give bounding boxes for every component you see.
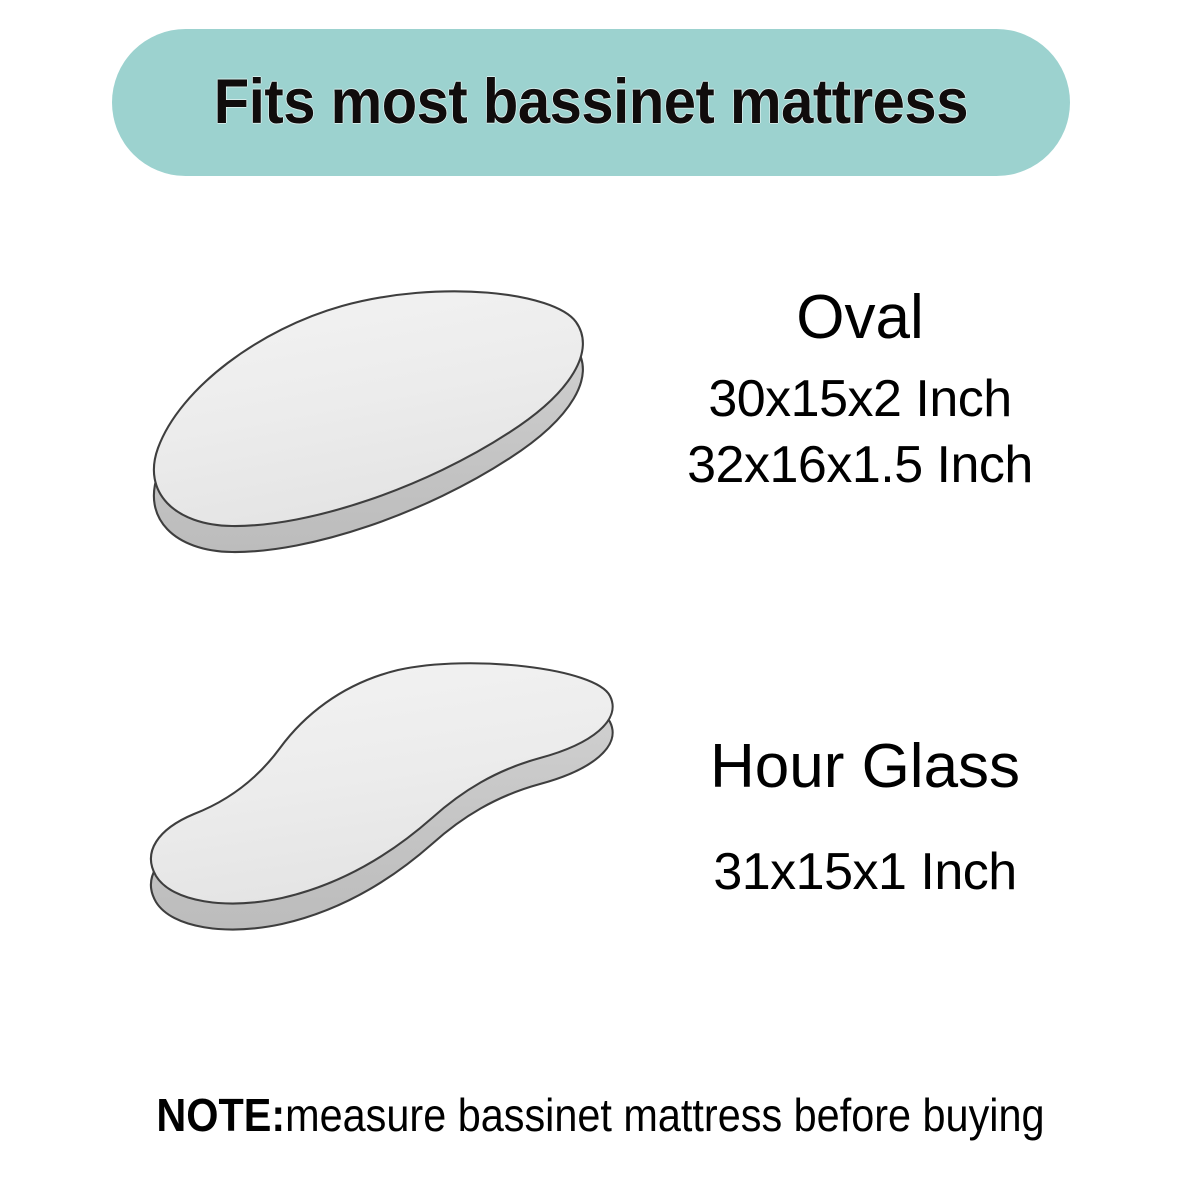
footer-note-label: NOTE:	[156, 1089, 285, 1141]
hourglass-size-1: 31x15x1 Inch	[620, 840, 1110, 906]
oval-size-1: 30x15x2 Inch	[610, 367, 1110, 433]
headline-banner-text: Fits most bassinet mattress	[214, 71, 968, 134]
footer-note-body: measure bassinet mattress before buying	[285, 1089, 1044, 1141]
headline-banner: Fits most bassinet mattress	[112, 29, 1070, 176]
oval-spec-block: Oval 30x15x2 Inch 32x16x1.5 Inch	[610, 286, 1110, 498]
hourglass-title: Hour Glass	[620, 735, 1110, 798]
oval-title: Oval	[610, 286, 1110, 349]
oval-mattress-icon	[140, 282, 610, 612]
oval-size-2: 32x16x1.5 Inch	[610, 433, 1110, 499]
oval-top-face	[154, 291, 583, 526]
hourglass-spec-block: Hour Glass 31x15x1 Inch	[620, 735, 1110, 906]
footer-note: NOTE:measure bassinet mattress before bu…	[0, 1092, 1200, 1138]
footer-note-inner: NOTE:measure bassinet mattress before bu…	[156, 1092, 1044, 1138]
hourglass-mattress-icon	[140, 652, 640, 992]
